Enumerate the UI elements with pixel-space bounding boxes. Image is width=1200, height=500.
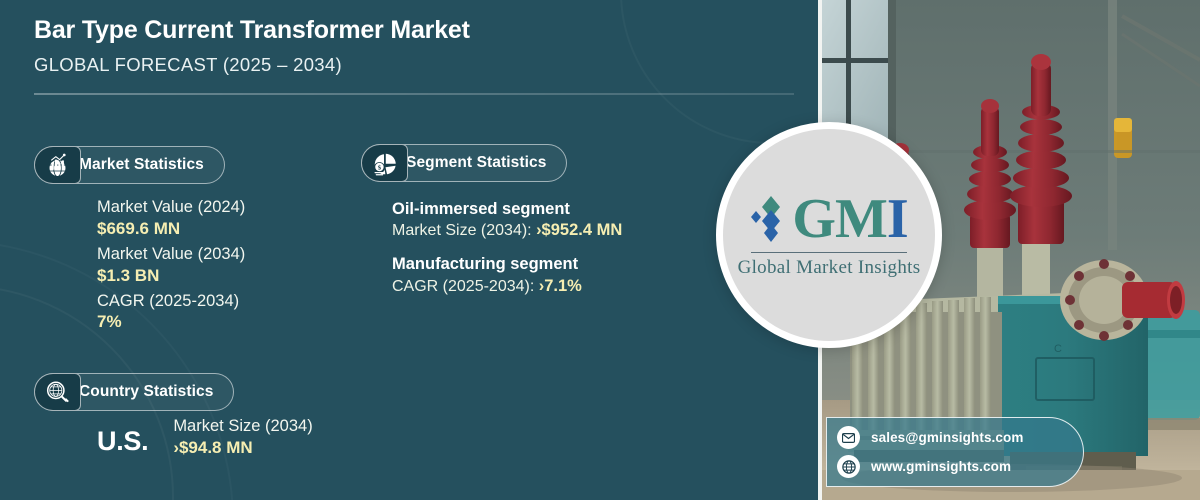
envelope-icon <box>837 426 860 449</box>
stat-label: Market Value (2024) <box>97 197 245 218</box>
gmi-letter-g: G <box>792 191 835 247</box>
segment-group: Manufacturing segment CAGR (2025-2034): … <box>392 254 622 297</box>
infographic-banner: Bar Type Current Transformer Market GLOB… <box>0 0 1200 500</box>
page-header: Bar Type Current Transformer Market GLOB… <box>34 16 794 76</box>
segment-statistics-chip: Segment Statistics $ <box>361 144 567 182</box>
country-metric: Market Size (2034) ›$94.8 MN <box>173 416 312 458</box>
header-divider <box>34 93 794 95</box>
segment-metric-label: Market Size (2034): <box>392 222 536 239</box>
country-statistics-label: Country Statistics <box>79 383 213 401</box>
segment-statistics-label: Segment Statistics <box>406 154 546 172</box>
gmi-logo-tagline: Global Market Insights <box>738 257 921 279</box>
segment-metric: Market Size (2034): ›$952.4 MN <box>392 220 622 242</box>
contact-email: sales@gminsights.com <box>871 430 1023 445</box>
globe-icon <box>837 455 860 478</box>
contact-website: www.gminsights.com <box>871 459 1011 474</box>
segment-metric-value: ›7.1% <box>539 277 582 295</box>
stat-row: Market Value (2034) $1.3 BN <box>97 244 245 286</box>
pie-chart-dollar-icon: $ <box>361 144 408 182</box>
page-subtitle: GLOBAL FORECAST (2025 – 2034) <box>34 54 794 76</box>
globe-magnifier-icon <box>34 373 81 411</box>
segment-metric-label: CAGR (2025-2034): <box>392 278 539 295</box>
contact-bar: sales@gminsights.com www.gminsights.com <box>826 417 1084 487</box>
gmi-diamond-icon <box>750 193 792 245</box>
segment-metric: CAGR (2025-2034): ›7.1% <box>392 276 622 298</box>
stat-value: $669.6 MN <box>97 218 245 239</box>
country-code: U.S. <box>97 428 148 455</box>
segment-metric-value: ›$952.4 MN <box>536 221 622 239</box>
country-statistics-values: U.S. Market Size (2034) ›$94.8 MN <box>97 416 313 458</box>
country-metric-label: Market Size (2034) <box>173 416 312 437</box>
stat-label: Market Value (2034) <box>97 244 245 265</box>
country-statistics-chip: Country Statistics <box>34 373 234 411</box>
gmi-logo: G M I Global Market Insights <box>716 122 942 348</box>
stat-value: 7% <box>97 311 245 332</box>
market-statistics-chip: Market Statistics <box>34 146 225 184</box>
segment-statistics-values: Oil-immersed segment Market Size (2034):… <box>392 199 622 309</box>
contact-email-row[interactable]: sales@gminsights.com <box>837 423 1083 452</box>
stat-label: CAGR (2025-2034) <box>97 291 245 312</box>
market-statistics-label: Market Statistics <box>79 156 204 174</box>
stat-value: $1.3 BN <box>97 265 245 286</box>
contact-website-row[interactable]: www.gminsights.com <box>837 452 1083 481</box>
segment-title: Manufacturing segment <box>392 254 622 275</box>
svg-text:C: C <box>1054 343 1062 355</box>
gmi-logo-rule <box>751 252 907 254</box>
gmi-letter-i: I <box>887 191 908 247</box>
gmi-logo-mark: G M I <box>750 191 907 247</box>
stat-row: CAGR (2025-2034) 7% <box>97 291 245 333</box>
market-statistics-values: Market Value (2024) $669.6 MN Market Val… <box>97 197 245 338</box>
segment-title: Oil-immersed segment <box>392 199 622 220</box>
country-metric-value: ›$94.8 MN <box>173 437 312 458</box>
gmi-letter-m: M <box>835 191 887 247</box>
globe-bar-chart-icon <box>34 146 81 184</box>
stat-row: Market Value (2024) $669.6 MN <box>97 197 245 239</box>
page-title: Bar Type Current Transformer Market <box>34 16 794 45</box>
segment-group: Oil-immersed segment Market Size (2034):… <box>392 199 622 242</box>
